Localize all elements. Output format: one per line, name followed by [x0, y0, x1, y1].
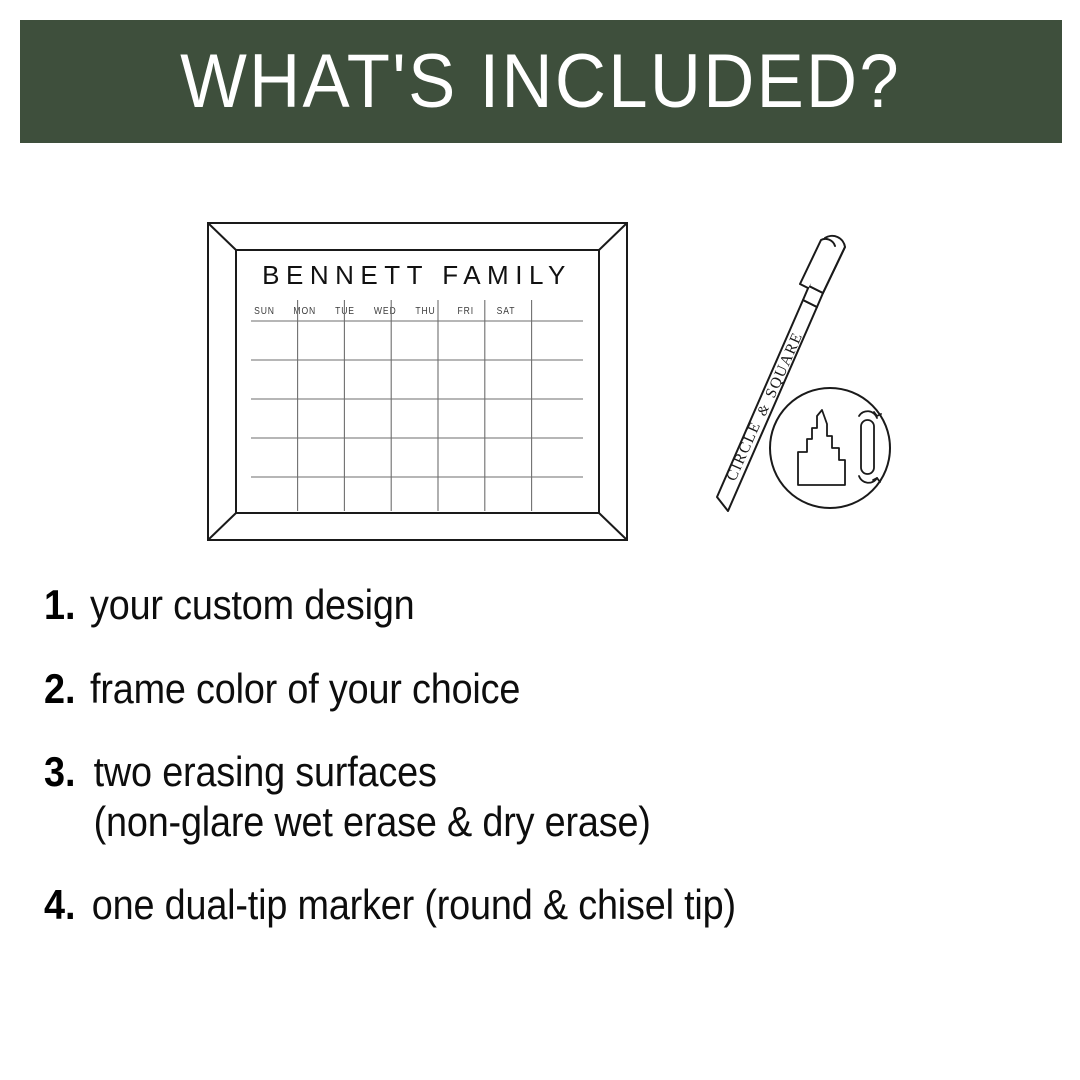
brand-word-square: SQUARE: [762, 329, 806, 400]
list-item-text: two erasing surfaces (non-glare wet eras…: [90, 747, 651, 846]
day-header-mon: MON: [293, 305, 316, 316]
list-item-text: your custom design: [90, 580, 415, 630]
list-item-text: one dual-tip marker (round & chisel tip): [90, 880, 736, 930]
list-item-text: frame color of your choice: [90, 664, 520, 714]
day-header-tue: TUE: [335, 305, 355, 316]
day-header-thu: THU: [415, 305, 435, 316]
day-header-fri: FRI: [458, 305, 474, 316]
list-item: 3. two erasing surfaces (non-glare wet e…: [0, 747, 1080, 846]
calendar-board-illustration: BENNETT FAMILY SUN MON TUE WED THU FRI S…: [205, 212, 630, 542]
round-tip-shape: [861, 420, 874, 474]
board-surface: [237, 251, 598, 512]
header-banner: WHAT'S INCLUDED?: [20, 20, 1062, 143]
list-item: 2. frame color of your choice: [0, 664, 1080, 714]
list-item-number: 4.: [44, 880, 85, 930]
illustration-zone: BENNETT FAMILY SUN MON TUE WED THU FRI S…: [0, 200, 1080, 560]
list-item-number: 3.: [44, 747, 85, 797]
feature-list: 1. your custom design 2. frame color of …: [0, 580, 1080, 930]
list-item: 4. one dual-tip marker (round & chisel t…: [0, 880, 1080, 930]
page-title: WHAT'S INCLUDED?: [181, 44, 902, 120]
day-header-sun: SUN: [254, 305, 275, 316]
list-item-number: 2.: [44, 664, 85, 714]
day-header-wed: WED: [374, 305, 397, 316]
day-header-sat: SAT: [497, 305, 516, 316]
marker-tip-inset: [770, 388, 890, 508]
board-title: BENNETT FAMILY: [262, 260, 572, 290]
marker-illustration: CIRCLE & SQUARE: [695, 220, 900, 520]
list-item: 1. your custom design: [0, 580, 1080, 630]
list-item-number: 1.: [44, 580, 85, 630]
